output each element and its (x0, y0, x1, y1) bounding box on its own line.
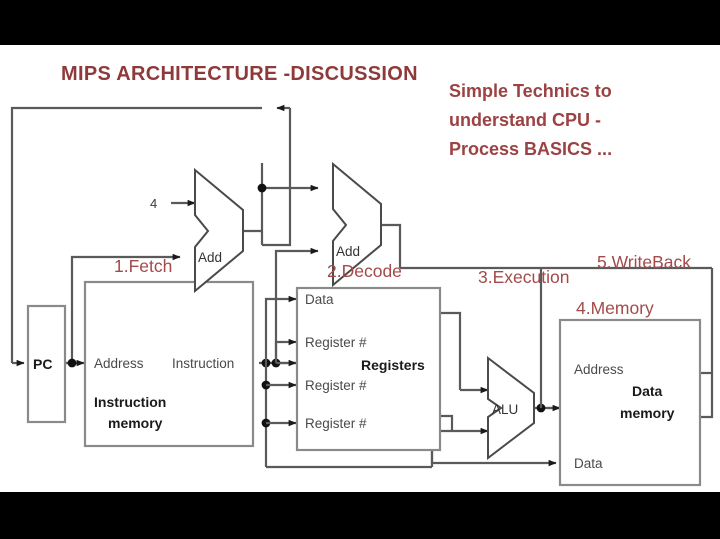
data-memory-data-port: Data (574, 456, 603, 471)
instruction-memory-address-port: Address (94, 356, 144, 371)
registers-reg3-port: Register # (305, 416, 367, 431)
wire-reg-out-bottom-seg (440, 416, 452, 431)
stage-tag-memory: 4.Memory (576, 298, 654, 318)
data-memory-address-port: Address (574, 362, 624, 377)
alu-unit[interactable]: ALU (488, 358, 534, 458)
add-left-label: Add (198, 250, 222, 265)
junction-dot-pc-out (68, 359, 77, 368)
note-line-2: understand CPU - (449, 110, 601, 130)
instruction-memory-instruction-port: Instruction (172, 356, 234, 371)
stage-tag-writeback: 5.WriteBack (597, 252, 691, 272)
wire-branch-down (262, 108, 290, 245)
stage-tag-fetch: 1.Fetch (114, 256, 172, 276)
letterbox-top (0, 0, 720, 45)
registers-reg2-port: Register # (305, 378, 367, 393)
letterbox-bottom (0, 492, 720, 539)
registers-reg1-port: Register # (305, 335, 367, 350)
instruction-memory-name-line1: Instruction (94, 394, 166, 410)
add-left-unit[interactable]: Add (195, 170, 243, 291)
add-right-label: Add (336, 244, 360, 259)
data-memory-name-line1: Data (632, 383, 663, 399)
instruction-memory-name-line2: memory (108, 415, 163, 431)
stage-tag-execution: 3.Execution (478, 267, 569, 287)
add-left-shape (195, 170, 243, 291)
pc-block[interactable]: PC (28, 306, 65, 422)
data-memory-name-line2: memory (620, 405, 675, 421)
stage-tag-decode: 2.Decode (327, 261, 402, 281)
constant-four-label: 4 (150, 196, 157, 211)
junction-dot-bus-top (258, 184, 267, 193)
data-memory-block[interactable]: Address Data memory Data (560, 320, 700, 485)
wire-reg-out-top-seg (440, 313, 460, 390)
registers-name: Registers (361, 357, 425, 373)
pc-label: PC (33, 356, 52, 372)
registers-data-port: Data (305, 292, 334, 307)
registers-block[interactable]: Data Register # Registers Register # Reg… (297, 288, 440, 450)
page-title: MIPS ARCHITECTURE -DISCUSSION (61, 63, 418, 85)
diagram-area: MIPS ARCHITECTURE -DISCUSSION Simple Tec… (0, 45, 720, 492)
slide-canvas: MIPS ARCHITECTURE -DISCUSSION Simple Tec… (0, 0, 720, 539)
alu-label: ALU (492, 402, 518, 417)
note-line-3: Process BASICS ... (449, 139, 612, 159)
instruction-memory-block[interactable]: Address Instruction Instruction memory (85, 282, 253, 446)
note-line-1: Simple Technics to (449, 81, 612, 101)
